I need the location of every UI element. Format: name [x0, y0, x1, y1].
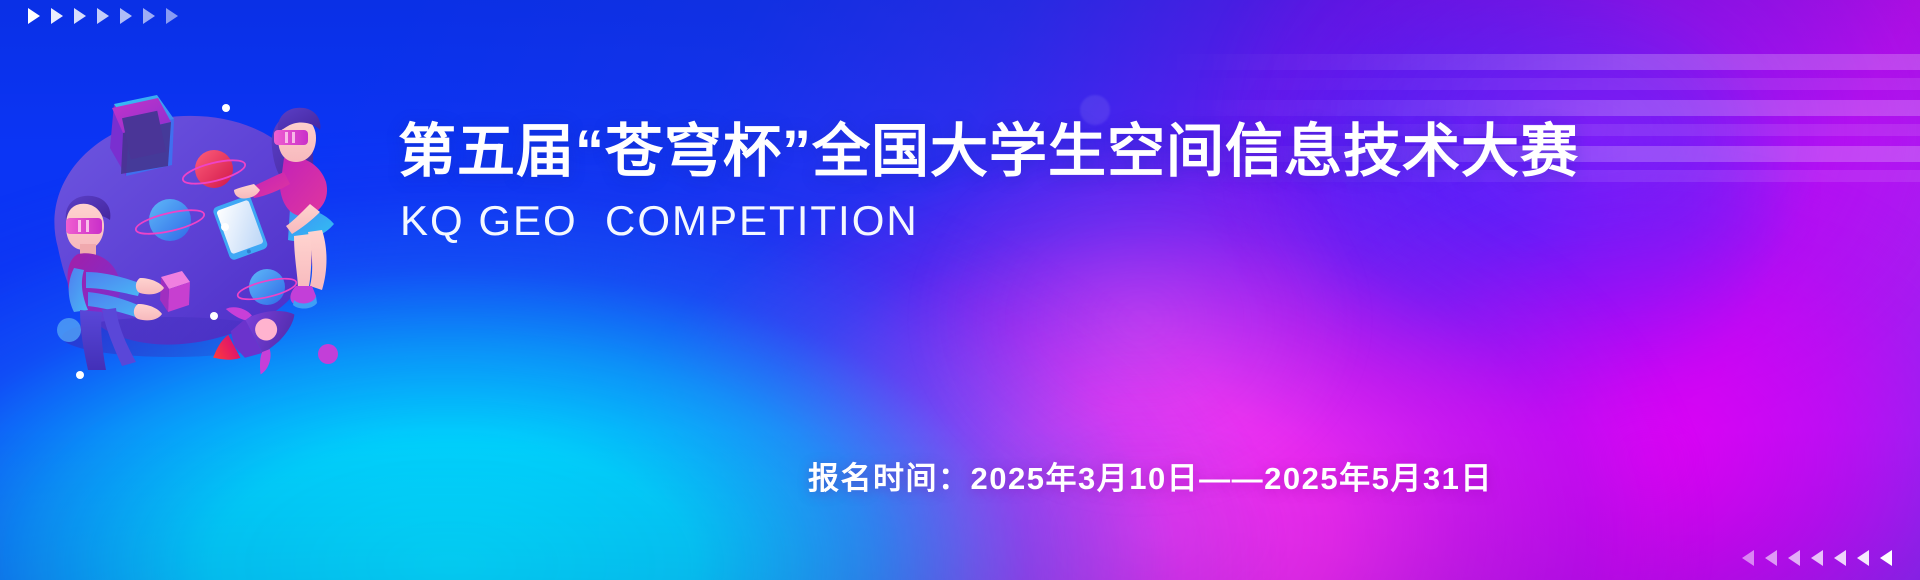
- competition-banner: 第五届“苍穹杯”全国大学生空间信息技术大赛 KQ GEO COMPETITION…: [0, 0, 1920, 580]
- triangle-left-icon: [1742, 550, 1754, 566]
- banner-text-block: 第五届“苍穹杯”全国大学生空间信息技术大赛 KQ GEO COMPETITION: [398, 120, 1898, 242]
- stripe-decor: [1160, 78, 1920, 90]
- triangle-right-icon: [74, 8, 86, 24]
- triangle-left-icon: [1788, 550, 1800, 566]
- floating-cube-large: [110, 95, 174, 176]
- triangle-left-icon: [1834, 550, 1846, 566]
- vr-goggles-icon: [66, 218, 102, 234]
- stripe-decor: [1160, 100, 1920, 116]
- triangle-left-icon: [1811, 550, 1823, 566]
- star-dot: [222, 104, 230, 112]
- triangle-right-icon: [166, 8, 178, 24]
- planet-tiny-purple: [318, 344, 338, 364]
- triangle-right-icon: [28, 8, 40, 24]
- vr-space-exploration-illustration: [22, 72, 352, 372]
- star-dot: [221, 223, 229, 231]
- page-title: 第五届“苍穹杯”全国大学生空间信息技术大赛: [398, 120, 1898, 184]
- triangle-right-icon: [120, 8, 132, 24]
- triangle-left-icon: [1880, 550, 1892, 566]
- vr-goggles-icon: [274, 130, 308, 145]
- planet-tiny-blue: [57, 318, 81, 342]
- arrow-decor-bottom-right: [1742, 550, 1892, 566]
- triangle-right-icon: [51, 8, 63, 24]
- triangle-left-icon: [1857, 550, 1869, 566]
- page-subtitle: KQ GEO COMPETITION: [400, 200, 1898, 242]
- registration-period-text: 报名时间：2025年3月10日——2025年5月31日: [808, 453, 1493, 498]
- triangle-right-icon: [143, 8, 155, 24]
- triangle-left-icon: [1765, 550, 1777, 566]
- stripe-decor: [1160, 54, 1920, 70]
- floating-cube-small: [160, 271, 190, 312]
- star-dot: [76, 371, 84, 379]
- triangle-right-icon: [97, 8, 109, 24]
- arrow-decor-top-left: [28, 8, 178, 24]
- star-dot: [210, 312, 218, 320]
